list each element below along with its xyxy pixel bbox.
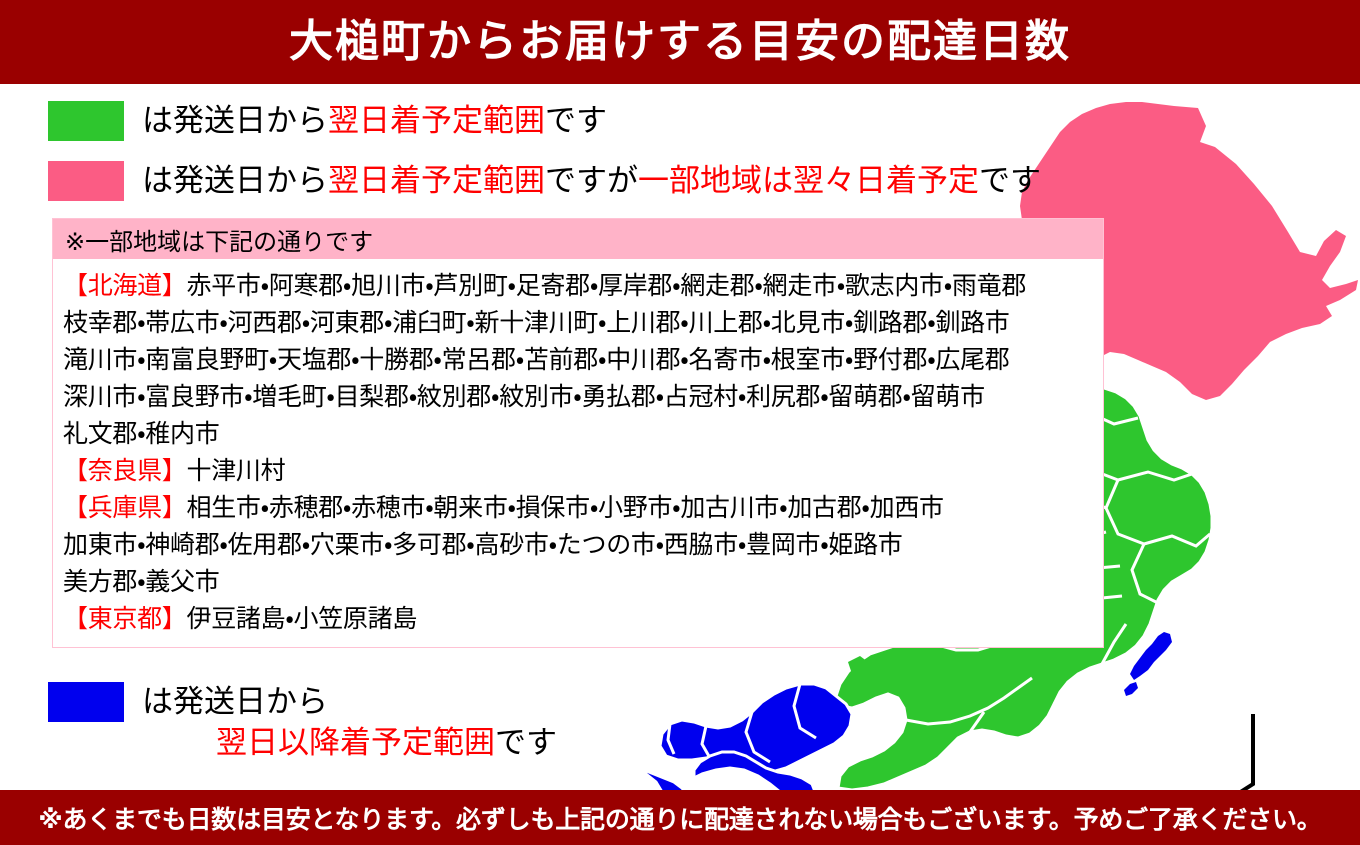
legend-blue-post: です (495, 725, 557, 761)
blue-swatch (48, 682, 124, 722)
legend-blue-row1: は発送日から (48, 682, 1220, 722)
legend-green-post: です (545, 103, 607, 139)
legend-green-pre: は発送日から (142, 103, 328, 139)
region-list: 赤平市・阿寒郡・旭川市・芦別町・足寄郡・厚岸郡・網走郡・網走市・歌志内市・雨竜郡 (187, 271, 1027, 300)
page-title: 大槌町からお届けする目安の配達日数 (289, 20, 1071, 64)
prefecture-label: 【兵庫県】 (63, 493, 187, 522)
region-line: 礼文郡・稚内市 (63, 415, 1093, 452)
region-line: 【北海道】赤平市・阿寒郡・旭川市・芦別町・足寄郡・厚岸郡・網走郡・網走市・歌志内… (63, 267, 1093, 304)
region-list: 相生市・赤穂郡・赤穂市・朝来市・損保市・小野市・加古川市・加古郡・加西市 (187, 493, 944, 522)
legend-green-text: は発送日から翌日着予定範囲です (142, 106, 607, 137)
region-line: 深川市・富良野市・増毛町・目梨郡・紋別郡・紋別市・勇払郡・占冠村・利尻郡・留萌郡… (63, 378, 1093, 415)
region-line: 【奈良県】十津川村 (63, 452, 1093, 489)
exception-regions-box: ※一部地域は下記の通りです 【北海道】赤平市・阿寒郡・旭川市・芦別町・足寄郡・厚… (52, 218, 1104, 648)
prefecture-label: 【東京都】 (63, 604, 187, 633)
legend-pink-highlight2: 一部地域は翌々日着予定 (638, 163, 979, 199)
region-list: 深川市・富良野市・増毛町・目梨郡・紋別郡・紋別市・勇払郡・占冠村・利尻郡・留萌郡… (63, 382, 985, 411)
delivery-days-infographic: 大槌町からお届けする目安の配達日数 (0, 0, 1360, 845)
region-line: 【兵庫県】相生市・赤穂郡・赤穂市・朝来市・損保市・小野市・加古川市・加古郡・加西… (63, 489, 1093, 526)
legend-blue-line1: は発送日から (142, 687, 328, 718)
region-list: 加東市・神崎郡・佐用郡・穴栗市・多可郡・高砂市・たつの市・西脇市・豊岡市・姫路市 (63, 530, 903, 559)
prefecture-label: 【奈良県】 (63, 456, 187, 485)
legend-row-green: は発送日から翌日着予定範囲です (48, 98, 1220, 144)
region-list: 美方郡・義父市 (63, 567, 219, 596)
region-line: 美方郡・義父市 (63, 563, 1093, 600)
exception-regions-body: 【北海道】赤平市・阿寒郡・旭川市・芦別町・足寄郡・厚岸郡・網走郡・網走市・歌志内… (53, 259, 1103, 647)
legend-blue-highlight: 翌日以降着予定範囲 (216, 725, 495, 761)
legend-row-blue: は発送日から 翌日以降着予定範囲です (48, 682, 1220, 759)
legend-pink-post: です (979, 163, 1041, 199)
region-list: 伊豆諸島・小笠原諸島 (187, 604, 418, 633)
region-list: 礼文郡・稚内市 (63, 419, 219, 448)
content-column: は発送日から翌日着予定範囲です は発送日から翌日着予定範囲ですが一部地域は翌々日… (0, 84, 1220, 759)
legend-pink-pre: は発送日から (142, 163, 328, 199)
region-list: 滝川市・南富良野町・天塩郡・十勝郡・常呂郡・苫前郡・中川郡・名寄市・根室市・野付… (63, 345, 1010, 374)
region-list: 枝幸郡・帯広市・河西郡・河東郡・浦臼町・新十津川町・上川郡・川上郡・北見市・釧路… (63, 308, 1010, 337)
region-line: 加東市・神崎郡・佐用郡・穴栗市・多可郡・高砂市・たつの市・西脇市・豊岡市・姫路市 (63, 526, 1093, 563)
legend-green-highlight: 翌日着予定範囲 (328, 103, 545, 139)
green-swatch (48, 101, 124, 141)
header-bar: 大槌町からお届けする目安の配達日数 (0, 0, 1360, 84)
legend-pink-highlight: 翌日着予定範囲 (328, 163, 545, 199)
region-line: 【東京都】伊豆諸島・小笠原諸島 (63, 600, 1093, 637)
prefecture-label: 【北海道】 (63, 271, 187, 300)
region-line: 滝川市・南富良野町・天塩郡・十勝郡・常呂郡・苫前郡・中川郡・名寄市・根室市・野付… (63, 341, 1093, 378)
footer-note: ※あくまでも日数は目安となります。必ずしも上記の通りに配達されない場合もございま… (38, 800, 1321, 836)
legend-pink-mid: ですが (545, 163, 638, 199)
region-list: 十津川村 (187, 456, 286, 485)
exception-regions-inner: ※一部地域は下記の通りです 【北海道】赤平市・阿寒郡・旭川市・芦別町・足寄郡・厚… (52, 218, 1104, 648)
footer-bar: ※あくまでも日数は目安となります。必ずしも上記の通りに配達されない場合もございま… (0, 790, 1360, 845)
legend-blue-row2: 翌日以降着予定範囲です (216, 728, 1220, 759)
exception-regions-heading: ※一部地域は下記の通りです (53, 219, 1103, 259)
region-line: 枝幸郡・帯広市・河西郡・河東郡・浦臼町・新十津川町・上川郡・川上郡・北見市・釧路… (63, 304, 1093, 341)
pink-swatch (48, 161, 124, 201)
legend-row-pink: は発送日から翌日着予定範囲ですが一部地域は翌々日着予定です (48, 158, 1220, 204)
legend-pink-text: は発送日から翌日着予定範囲ですが一部地域は翌々日着予定です (142, 166, 1041, 197)
